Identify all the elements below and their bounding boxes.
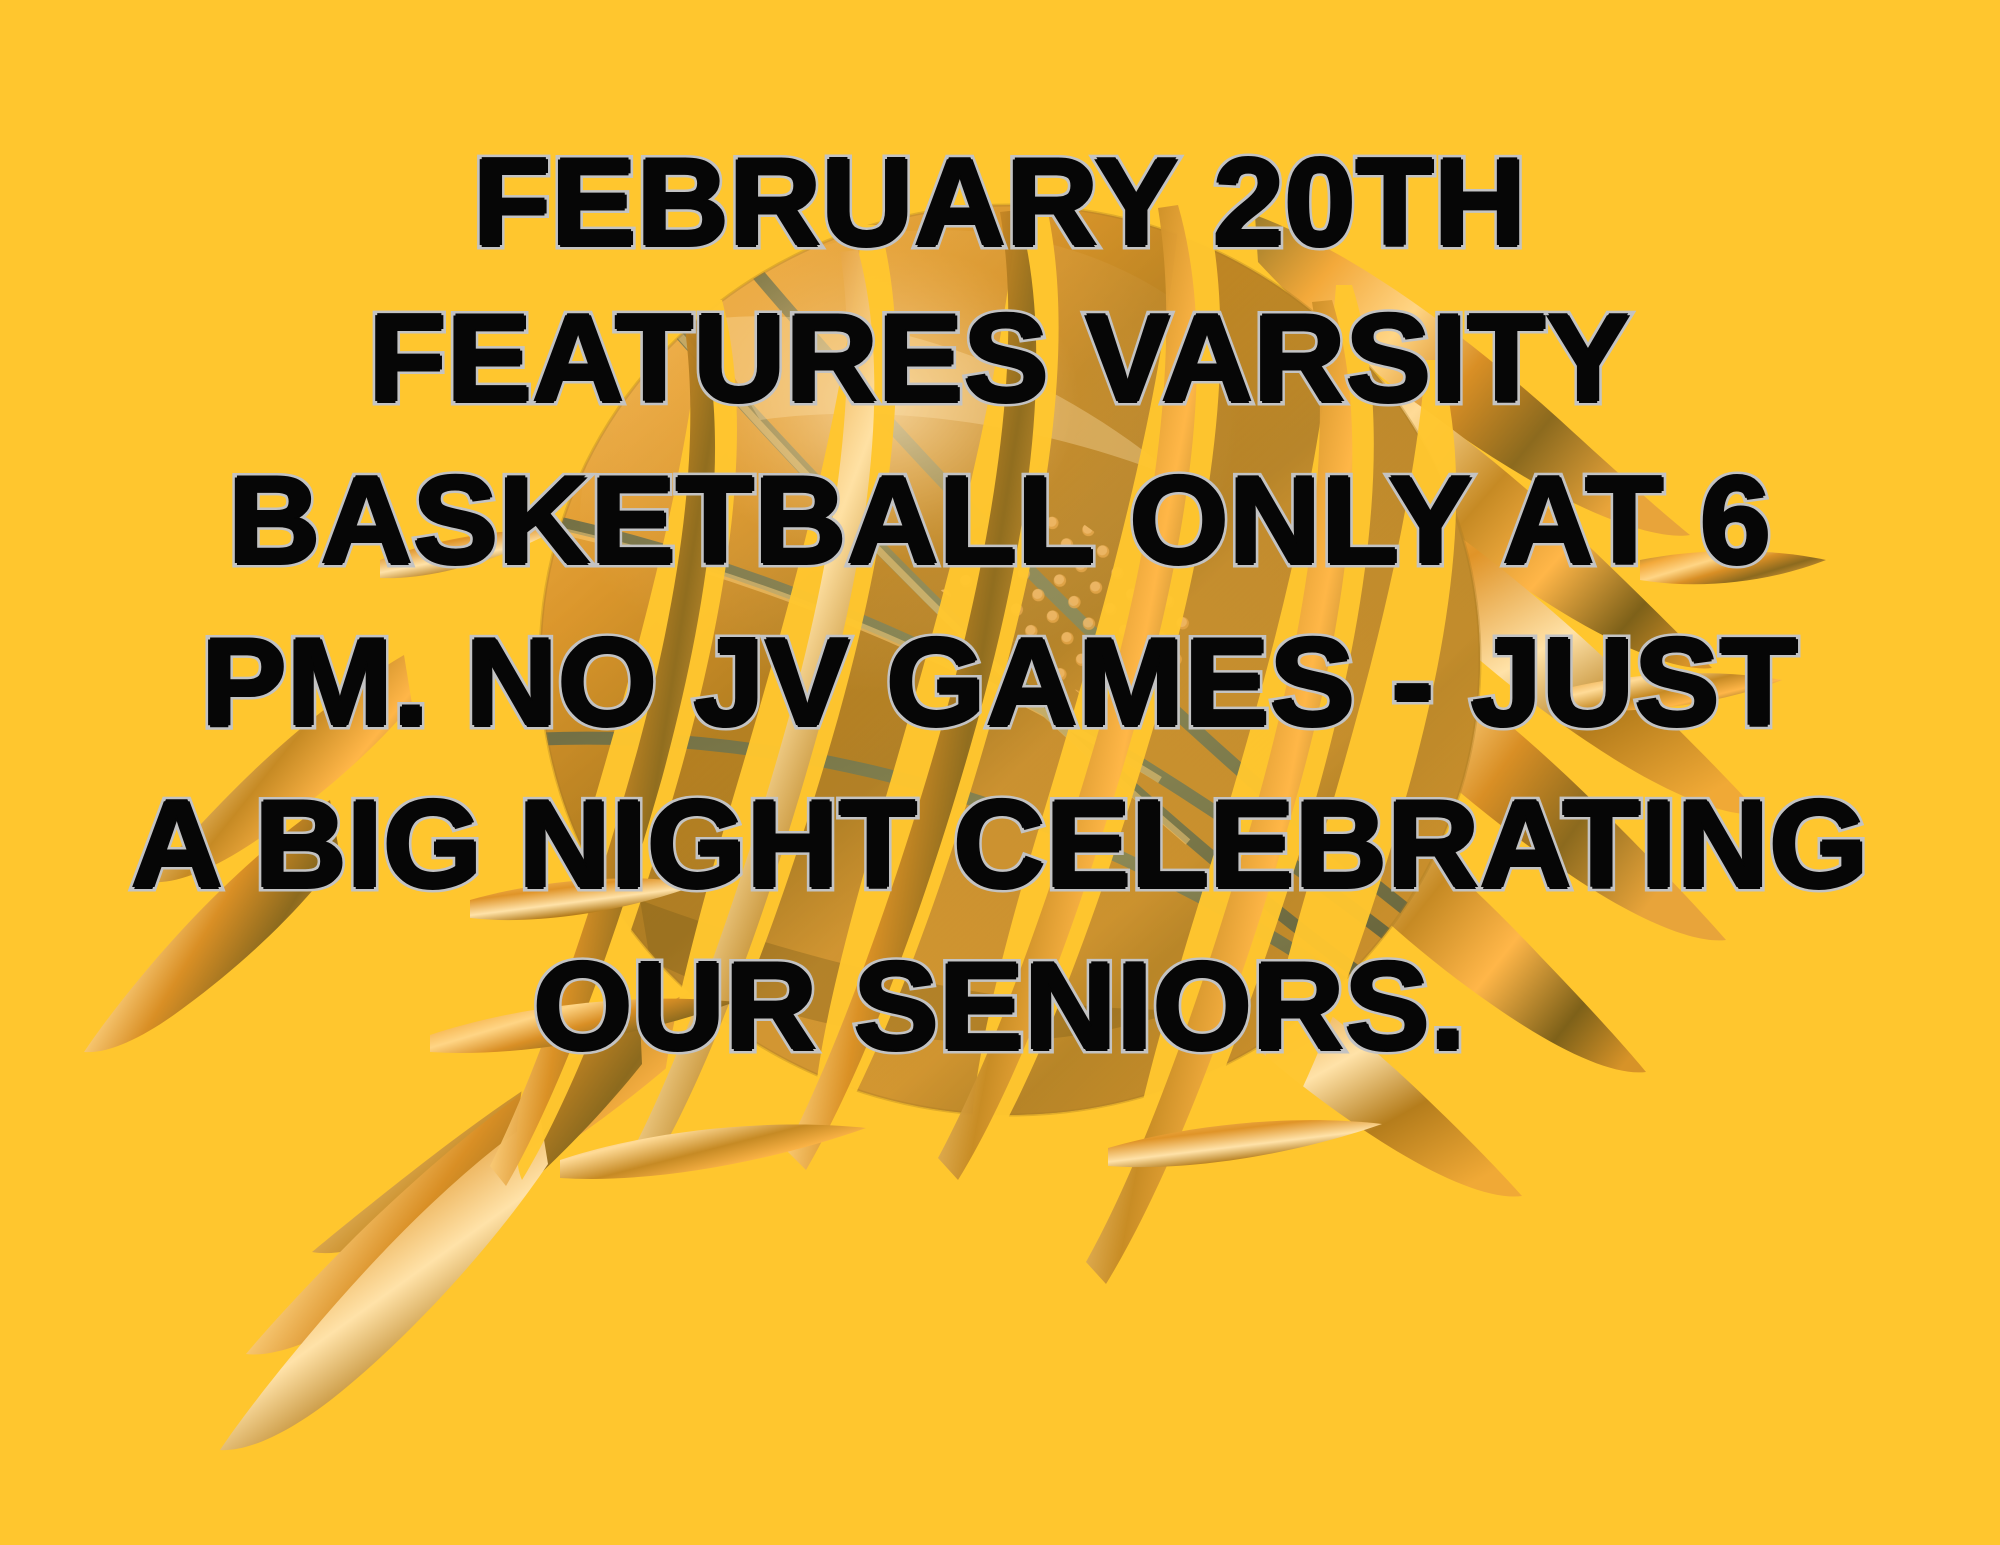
message-line-5: A BIG NIGHT CELEBRATING: [0, 764, 2000, 926]
message-line-2: FEATURES VARSITY: [0, 278, 2000, 440]
message-line-1: FEBRUARY 20TH: [0, 128, 2000, 278]
announcement-message: FEBRUARY 20TH FEATURES VARSITY BASKETBAL…: [0, 128, 2000, 1088]
message-line-3: BASKETBALL ONLY AT 6: [0, 440, 2000, 602]
announcement-poster: FEBRUARY 20TH FEATURES VARSITY BASKETBAL…: [0, 0, 2000, 1545]
message-line-6: OUR SENIORS.: [0, 926, 2000, 1088]
message-line-4: PM. NO JV GAMES - JUST: [0, 602, 2000, 764]
